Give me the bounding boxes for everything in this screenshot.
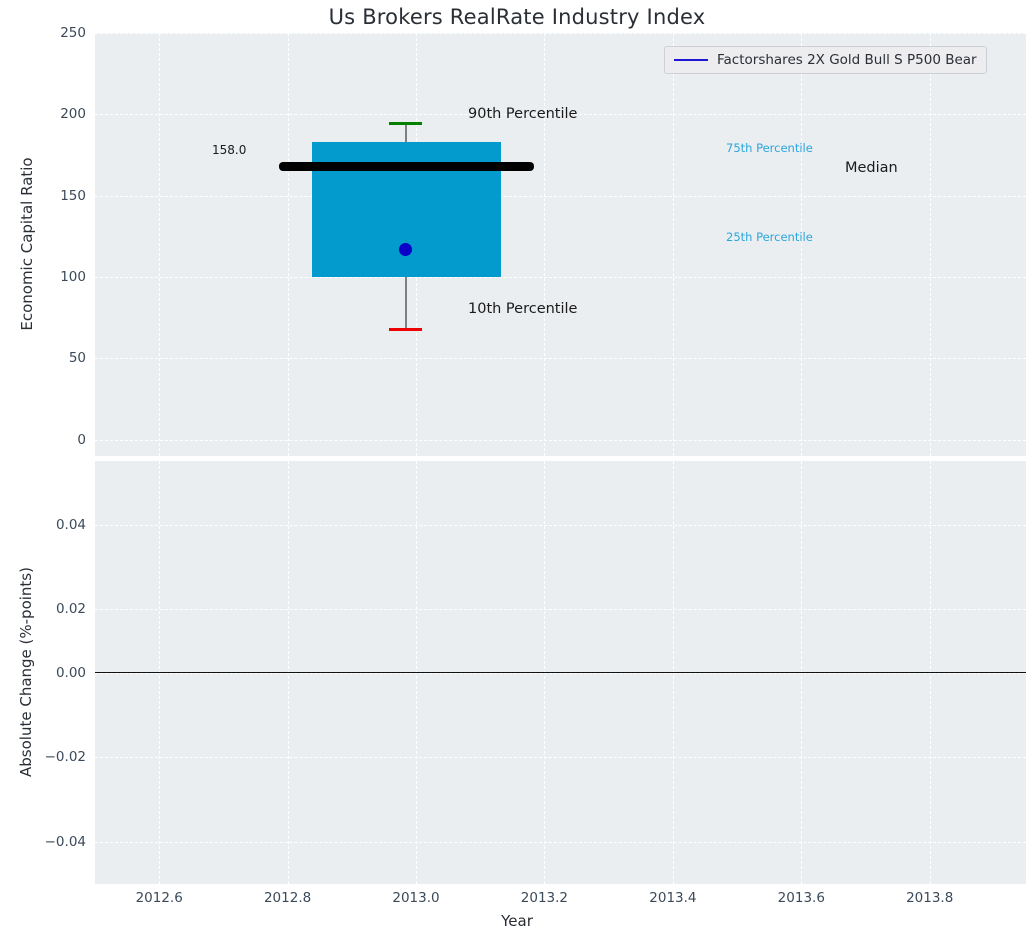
- xtick-2013-2: 2013.2: [521, 890, 568, 906]
- gridline-x-2012-6: [159, 33, 160, 456]
- annotation-10th-percentile: 10th Percentile: [468, 301, 577, 317]
- xtick-2013-6: 2013.6: [778, 890, 825, 906]
- gridline-y-neg-0-02: [95, 757, 1026, 758]
- y-axis-label-bottom: Absolute Change (%-points): [17, 542, 35, 802]
- gridline-x-2013-6: [801, 33, 802, 456]
- ytick-top-250: 250: [11, 25, 95, 41]
- series-marker-factorshares: [399, 243, 412, 256]
- plot-panel-economic-capital-ratio: 90th Percentile 10th Percentile Median 7…: [95, 33, 1026, 456]
- annotation-25th-percentile: 25th Percentile: [726, 230, 813, 244]
- y-axis-label-top: Economic Capital Ratio: [18, 144, 36, 344]
- gridline-y-150: [95, 196, 1026, 197]
- whisker-cap-p90: [389, 122, 422, 125]
- y-axis-bottom: 0.04 0.02 0.00 −0.02 −0.04: [0, 461, 95, 884]
- x-axis-label: Year: [0, 912, 1034, 930]
- page-title: Us Brokers RealRate Industry Index: [0, 5, 1034, 29]
- median-bar: [279, 162, 534, 171]
- ytick-top-50: 50: [11, 350, 95, 366]
- gridline-y-neg-0-04: [95, 842, 1026, 843]
- ytick-bottom-0-04: 0.04: [11, 517, 95, 533]
- gridline-y-0: [95, 440, 1026, 441]
- annotation-90th-percentile: 90th Percentile: [468, 106, 577, 122]
- legend-entry-label: Factorshares 2X Gold Bull S P500 Bear: [717, 52, 977, 68]
- ytick-top-0: 0: [11, 432, 95, 448]
- whisker-cap-p10: [389, 328, 422, 331]
- gridline-y-100: [95, 277, 1026, 278]
- annotation-75th-percentile: 75th Percentile: [726, 141, 813, 155]
- gridline-x-2013-8: [930, 33, 931, 456]
- zero-reference-line: [95, 672, 1026, 674]
- xtick-2013-0: 2013.0: [392, 890, 439, 906]
- gridline-x-2013-2: [544, 33, 545, 456]
- ytick-bottom-neg-0-04: −0.04: [11, 834, 95, 850]
- gridline-y-0-02: [95, 609, 1026, 610]
- gridline-x-2013-4: [673, 33, 674, 456]
- gridline-x-2012-8: [288, 33, 289, 456]
- plot-panel-absolute-change: [95, 461, 1026, 884]
- gridline-y-250: [95, 33, 1026, 34]
- gridline-y-0-04: [95, 525, 1026, 526]
- xtick-2013-8: 2013.8: [906, 890, 953, 906]
- chart-figure: Us Brokers RealRate Industry Index 90th …: [0, 0, 1034, 942]
- xtick-2012-8: 2012.8: [264, 890, 311, 906]
- annotation-median: Median: [845, 160, 898, 176]
- xtick-2013-4: 2013.4: [649, 890, 696, 906]
- ytick-top-200: 200: [11, 106, 95, 122]
- legend-line-icon: [674, 59, 708, 61]
- y-axis-top: 250 200 150 100 50 0: [0, 33, 95, 456]
- xtick-2012-6: 2012.6: [136, 890, 183, 906]
- gridline-y-50: [95, 358, 1026, 359]
- annotation-median-value: 158.0: [212, 143, 246, 157]
- chart-legend[interactable]: Factorshares 2X Gold Bull S P500 Bear: [664, 46, 987, 74]
